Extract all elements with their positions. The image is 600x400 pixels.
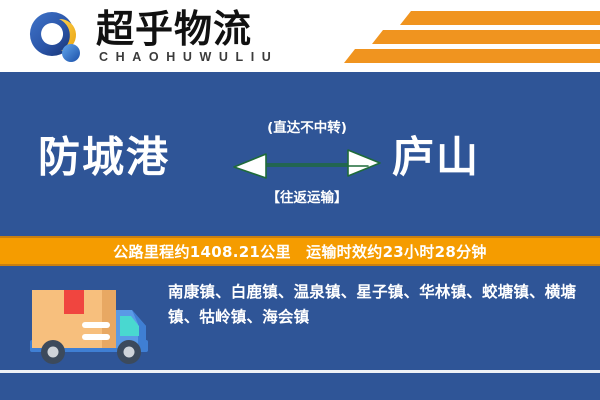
stripe-2: [372, 30, 600, 44]
decorative-stripes: [335, 6, 600, 68]
banner-header: 超乎物流 CHAOHUWULIU: [0, 0, 600, 72]
route-panel: 防城港 (直达不中转) 【往返运输】 庐山: [0, 72, 600, 236]
delivery-truck-icon: [26, 278, 158, 374]
bidirectional-arrow-icon: [228, 144, 386, 182]
circle-crescent-logo-icon: [28, 10, 84, 66]
logistics-route-banner: 超乎物流 CHAOHUWULIU 防城港 (直达不中转) 【往返运输】 庐山: [0, 0, 600, 400]
origin-city: 防城港: [38, 124, 170, 185]
brand-name-cn: 超乎物流: [96, 8, 252, 50]
stripe-3: [344, 49, 600, 63]
round-trip-note: 【往返运输】: [228, 186, 386, 206]
distance-and-duration-text: 公路里程约1408.21公里 运输时效约23小时28分钟: [113, 241, 486, 262]
brand-name-en: CHAOHUWULIU: [99, 50, 278, 64]
destination-city: 庐山: [392, 124, 480, 185]
coverage-panel: 南康镇、白鹿镇、温泉镇、星子镇、华林镇、蛟塘镇、横塘镇、牯岭镇、海会镇: [0, 266, 600, 400]
ground-line: [0, 370, 600, 373]
route-middle: (直达不中转) 【往返运输】: [228, 72, 386, 236]
route-info-bar: 公路里程约1408.21公里 运输时效约23小时28分钟: [0, 236, 600, 266]
direct-route-note: (直达不中转): [228, 116, 386, 136]
stripe-1: [400, 11, 600, 25]
covered-towns-list: 南康镇、白鹿镇、温泉镇、星子镇、华林镇、蛟塘镇、横塘镇、牯岭镇、海会镇: [168, 280, 582, 330]
